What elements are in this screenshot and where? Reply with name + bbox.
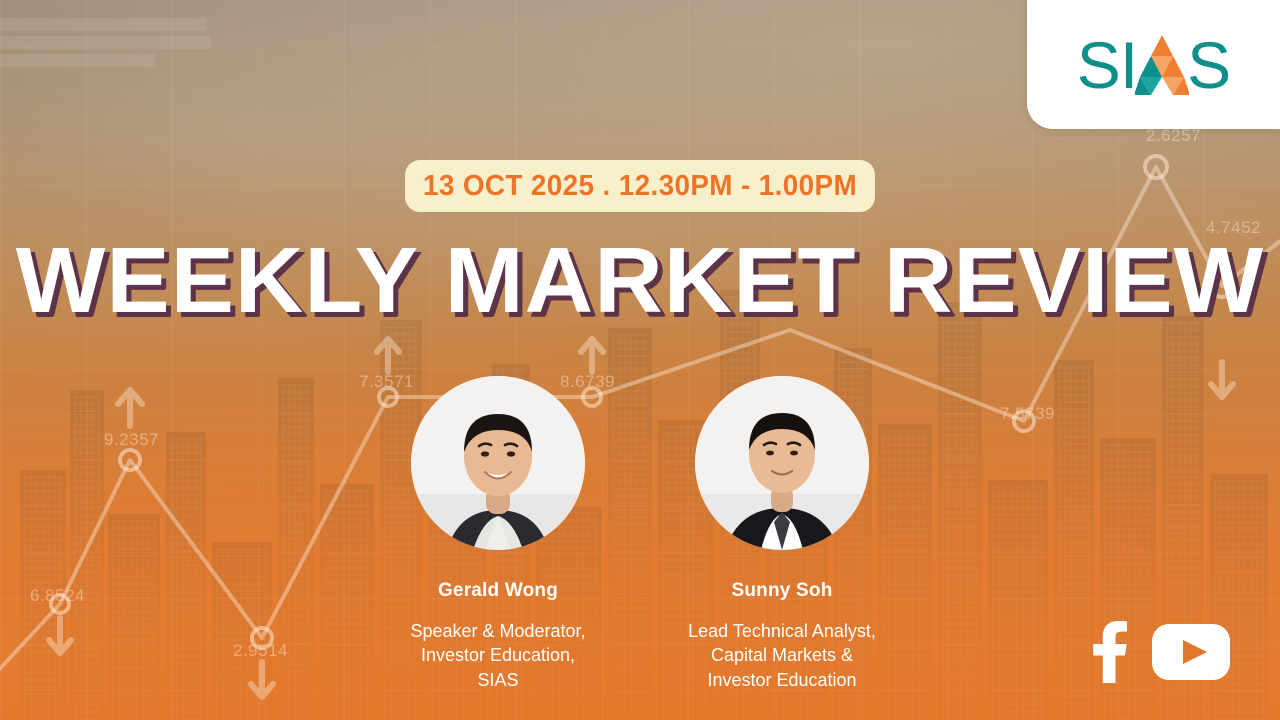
gerald-wong-portrait (411, 376, 585, 550)
speaker-card-gerald-wong: Gerald Wong Speaker & Moderator, Investo… (382, 376, 614, 692)
speaker-card-sunny-soh: Sunny Soh Lead Technical Analyst, Capita… (666, 376, 898, 692)
speaker-name: Sunny Soh (666, 580, 898, 602)
speaker-role: Speaker & Moderator, Investor Education,… (382, 619, 614, 692)
chart-label-26: 2.6257 (1146, 126, 1201, 146)
logo-text-si: SI (1077, 32, 1137, 98)
portrait-illustration-icon (411, 376, 585, 550)
social-links (1088, 621, 1230, 688)
sias-a-mark-icon (1135, 35, 1189, 95)
portrait-illustration-icon (695, 376, 869, 550)
date-time-text: 13 OCT 2025 . 12.30PM - 1.00PM (423, 170, 857, 203)
logo-text-s: S (1187, 32, 1230, 98)
sunny-soh-portrait (695, 376, 869, 550)
facebook-icon[interactable] (1088, 621, 1130, 688)
sias-logo: SI S (1077, 34, 1230, 96)
date-time-badge: 13 OCT 2025 . 12.30PM - 1.00PM (405, 160, 875, 212)
promo-banner: 9.2357 6.8524 2.9514 7.3571 8.6739 2.625… (0, 0, 1280, 720)
page-title: WEEKLY MARKET REVIEW (0, 234, 1280, 327)
sias-logo-card: SI S (1027, 0, 1280, 129)
youtube-icon[interactable] (1152, 624, 1230, 685)
speaker-role: Lead Technical Analyst, Capital Markets … (666, 619, 898, 692)
speaker-name: Gerald Wong (382, 580, 614, 602)
